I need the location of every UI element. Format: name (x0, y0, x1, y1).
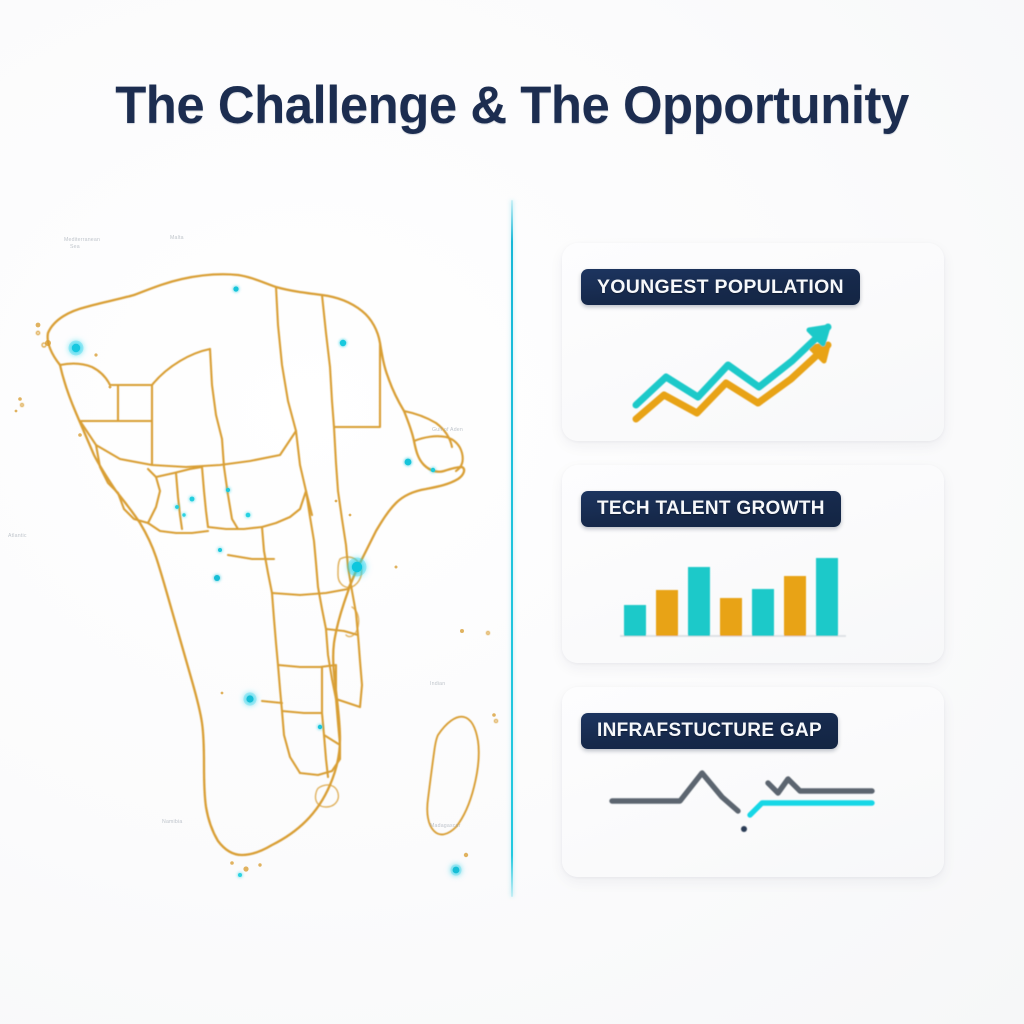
svg-text:Gulf of Aden: Gulf of Aden (432, 427, 463, 433)
svg-text:Sea: Sea (70, 244, 80, 250)
africa-map-panel[interactable]: Mediterranean Sea Malta Gulf of Aden Atl… (0, 215, 500, 905)
svg-text:Atlantic: Atlantic (8, 533, 27, 539)
map-country-borders (21, 274, 498, 855)
slide-canvas: The Challenge & The Opportunity (0, 0, 1024, 1024)
svg-text:Indian: Indian (430, 681, 445, 687)
svg-text:Mediterranean: Mediterranean (64, 237, 100, 243)
card-infrafstucture-gap[interactable]: INFRAFSTUCTURE GAP (562, 687, 944, 877)
card-youngest-population[interactable]: YOUNGEST POPULATION (562, 243, 944, 441)
page-title: The Challenge & The Opportunity (20, 78, 1003, 134)
trend-line-chart (562, 313, 944, 435)
insight-cards-column: YOUNGEST POPULATION (562, 243, 944, 901)
map-speck-dots (15, 323, 496, 905)
card-title-badge: INFRAFSTUCTURE GAP (581, 713, 838, 749)
africa-outline-map[interactable]: Mediterranean Sea Malta Gulf of Aden Atl… (0, 215, 500, 905)
svg-text:Madagascar: Madagascar (430, 823, 461, 829)
bar-series (620, 558, 846, 637)
svg-text:Malta: Malta (170, 235, 184, 241)
card-tech-talent-growth[interactable]: TECH TALENT GROWTH (562, 465, 944, 663)
card-title-badge: TECH TALENT GROWTH (581, 491, 841, 527)
vertical-divider (511, 200, 513, 897)
map-labels: Mediterranean Sea Malta Gulf of Aden Atl… (8, 235, 463, 905)
map-city-markers[interactable] (69, 286, 462, 905)
card-title-badge: YOUNGEST POPULATION (581, 269, 860, 305)
gap-line-chart (562, 749, 944, 871)
bar-chart (562, 535, 944, 657)
svg-text:Namibia: Namibia (162, 819, 182, 825)
